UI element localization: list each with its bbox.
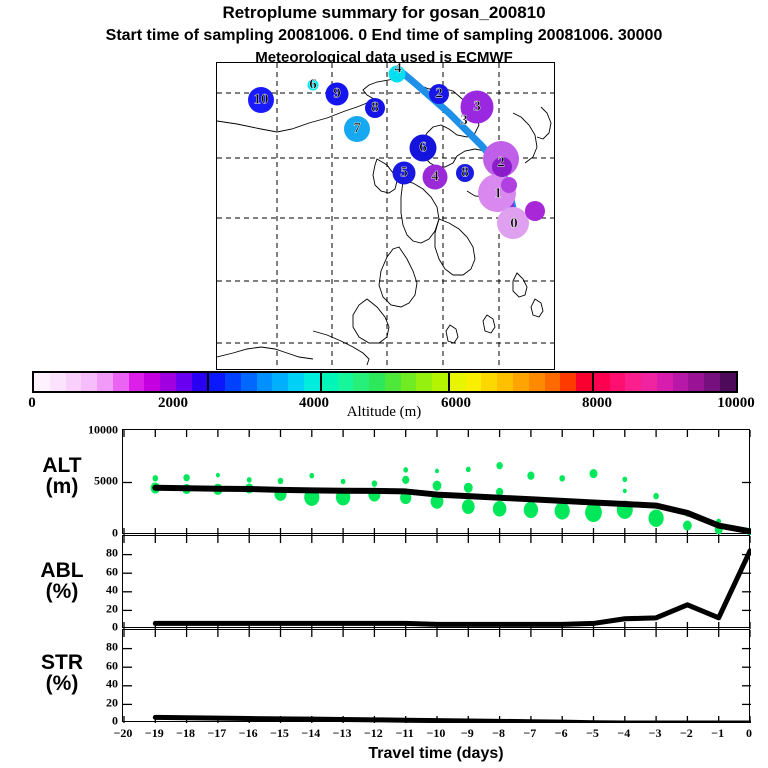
marker-label: 6 (419, 140, 427, 157)
abl-ytick: 60 (56, 565, 118, 580)
marker-label: 1 (494, 186, 502, 203)
alt-cluster-point (216, 473, 220, 478)
marker-label: 8 (461, 165, 469, 182)
marker-label: 9 (333, 86, 341, 103)
x-tick-label: −2 (680, 726, 693, 741)
alt-cluster-point (153, 475, 159, 481)
abl-ytick: 20 (56, 602, 118, 617)
abl-ytick: 40 (56, 583, 118, 598)
x-tick-label: −13 (333, 726, 352, 741)
colorbar-swatch (288, 373, 304, 391)
alt-cluster-point (372, 480, 378, 486)
x-tick-label: −3 (649, 726, 662, 741)
str-ytick: 60 (56, 659, 118, 674)
marker-label: 2 (435, 86, 443, 103)
colorbar-swatch (369, 373, 385, 391)
x-tick-label: 0 (746, 726, 752, 741)
x-axis-title: Travel time (days) (122, 745, 750, 763)
alt-plot (123, 430, 751, 535)
colorbar-swatch (513, 373, 529, 391)
colorbar-swatches (32, 371, 738, 393)
str-ytick: 20 (56, 696, 118, 711)
colorbar-swatch (481, 373, 497, 391)
x-tick-label: −20 (114, 726, 133, 741)
marker-label: 8 (371, 100, 379, 117)
marker-label: 3 (473, 99, 481, 116)
x-tick-label: −14 (301, 726, 320, 741)
alt-ytick: 0 (56, 526, 118, 541)
x-tick-label: −5 (586, 726, 599, 741)
colorbar-swatch (160, 373, 176, 391)
colorbar-swatch (673, 373, 689, 391)
alt-cluster-point (403, 467, 408, 473)
colorbar-swatch (272, 373, 288, 391)
x-tick-label: −12 (364, 726, 383, 741)
alt-cluster-point (435, 469, 439, 474)
colorbar-swatch (81, 373, 97, 391)
marker-label: 0 (510, 216, 518, 233)
retroplume-map[interactable]: 10 6 9 8 7 4 2 3 3 6 5 4 8 2 1 0 (216, 62, 555, 370)
page-title: Retroplume summary for gosan_200810 (0, 3, 768, 23)
alt-ytick: 5000 (56, 474, 118, 489)
str-panel[interactable] (122, 629, 750, 722)
x-tick-label: −17 (207, 726, 226, 741)
colorbar-swatch (50, 373, 66, 391)
sampling-time-line: Start time of sampling 20081006. 0 End t… (0, 27, 768, 45)
x-tick-label: −10 (427, 726, 446, 741)
str-ytick: 40 (56, 677, 118, 692)
alt-ytick: 10000 (56, 423, 118, 438)
colorbar-swatch (450, 373, 466, 391)
colorbar-swatch (176, 373, 192, 391)
colorbar-swatch (144, 373, 160, 391)
alt-cluster-point (527, 472, 534, 480)
colorbar-swatch (322, 373, 338, 391)
colorbar-swatch (497, 373, 513, 391)
x-tick-label: −6 (555, 726, 568, 741)
colorbar-swatch (401, 373, 417, 391)
alt-cluster-point (559, 475, 565, 481)
str-ytick: 0 (56, 714, 118, 729)
x-tick-label: −9 (461, 726, 474, 741)
x-tick-label: −11 (396, 726, 414, 741)
alt-cluster-point (590, 469, 598, 478)
alt-cluster-point (309, 473, 314, 479)
str-plot (123, 630, 751, 723)
colorbar-swatch (338, 373, 354, 391)
str-ytick: 80 (56, 640, 118, 655)
plume-marker[interactable] (501, 177, 517, 193)
marker-label: 3 (460, 113, 468, 130)
alt-panel[interactable] (122, 429, 750, 534)
x-tick-label: −7 (523, 726, 536, 741)
alt-cluster-point (433, 481, 442, 491)
colorbar-swatch (34, 373, 50, 391)
colorbar-swatch (610, 373, 626, 391)
alt-cluster-point (555, 502, 570, 519)
colorbar-swatch (192, 373, 208, 391)
abl-panel[interactable] (122, 535, 750, 628)
colorbar-swatch (545, 373, 561, 391)
colorbar-swatch (416, 373, 432, 391)
alt-cluster-point (496, 462, 502, 469)
alt-cluster-point (462, 499, 475, 514)
alt-cluster-point (622, 477, 627, 483)
alt-cluster-point (278, 478, 284, 484)
colorbar-swatch (688, 373, 704, 391)
colorbar-swatch (594, 373, 610, 391)
x-tick-label: −18 (176, 726, 195, 741)
marker-label: 5 (400, 165, 408, 182)
alt-cluster-point (247, 477, 252, 483)
svgSTR-line (155, 717, 750, 723)
x-tick-label: −15 (270, 726, 289, 741)
altitude-colorbar: 0 2000 4000 6000 8000 10000 (32, 371, 738, 393)
alt-cluster-point (493, 501, 507, 517)
x-tick-label: −1 (711, 726, 724, 741)
colorbar-swatch (432, 373, 448, 391)
colorbar-swatch (704, 373, 720, 391)
colorbar-swatch (641, 373, 657, 391)
alt-cluster-point (341, 479, 346, 485)
marker-label: 10 (254, 92, 269, 109)
colorbar-swatch (720, 373, 736, 391)
plume-marker[interactable] (525, 201, 545, 221)
colorbar-swatch (353, 373, 369, 391)
abl-ytick: 0 (56, 620, 118, 635)
alt-cluster-point (623, 489, 627, 494)
colorbar-swatch (560, 373, 576, 391)
marker-label: 2 (497, 155, 505, 172)
x-tick-label: −16 (239, 726, 258, 741)
colorbar-swatch (129, 373, 145, 391)
marker-label: 4 (394, 62, 402, 78)
colorbar-swatch (241, 373, 257, 391)
colorbar-swatch (657, 373, 673, 391)
colorbar-swatch (97, 373, 113, 391)
marker-label: 6 (309, 77, 317, 94)
colorbar-swatch (257, 373, 273, 391)
colorbar-swatch (209, 373, 225, 391)
alt-cluster-point (466, 467, 471, 473)
marker-label: 4 (431, 169, 439, 186)
colorbar-swatch (225, 373, 241, 391)
x-tick-label: −8 (492, 726, 505, 741)
marker-label: 7 (353, 121, 361, 138)
colorbar-swatch (529, 373, 545, 391)
alt-cluster-point (402, 476, 409, 484)
alt-cluster-point (683, 520, 692, 530)
alt-cluster-point (464, 483, 473, 493)
colorbar-axis-label: Altitude (m) (0, 404, 768, 421)
colorbar-swatch (576, 373, 592, 391)
colorbar-swatch (466, 373, 482, 391)
x-tick-label: −19 (145, 726, 164, 741)
colorbar-swatch (113, 373, 129, 391)
colorbar-swatch (66, 373, 82, 391)
abl-ytick: 80 (56, 546, 118, 561)
alt-cluster-point (524, 502, 538, 519)
alt-cluster-point (653, 493, 659, 499)
alt-cluster-point (649, 509, 664, 526)
alt-cluster-point (183, 474, 189, 481)
svgABL-line (155, 551, 750, 624)
colorbar-swatch (304, 373, 320, 391)
x-tick-label: −4 (617, 726, 630, 741)
abl-plot (123, 536, 751, 629)
colorbar-swatch (385, 373, 401, 391)
colorbar-swatch (625, 373, 641, 391)
